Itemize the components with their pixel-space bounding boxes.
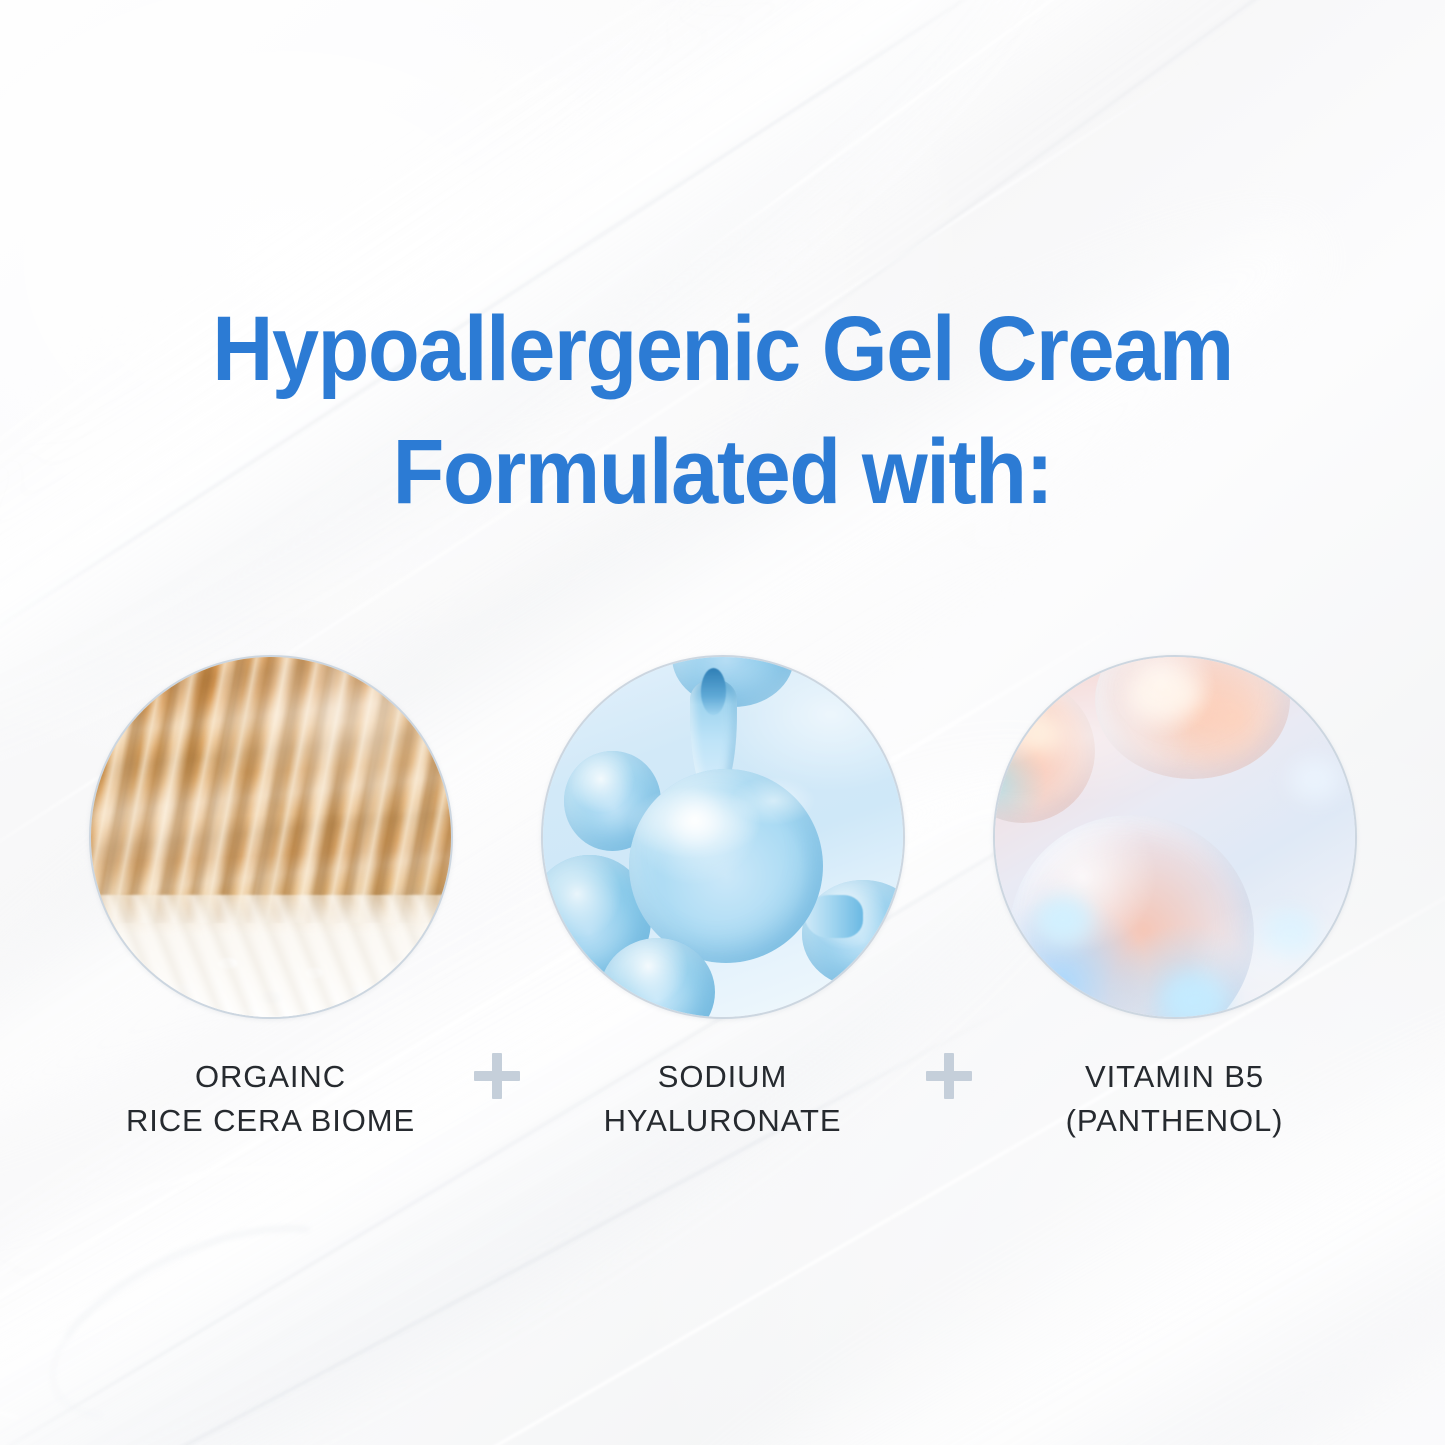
plus-icon — [926, 1053, 972, 1099]
ingredient-item-vitamin-b5: VITAMIN B5 (PANTHENOL) — [989, 655, 1361, 1143]
separator-plus-1 — [457, 655, 537, 1099]
ingredient-label-sodium-hyaluronate-line-1: SODIUM — [604, 1055, 842, 1099]
plus-icon — [474, 1053, 520, 1099]
separator-plus-2 — [909, 655, 989, 1099]
ingredient-label-vitamin-b5-line-1: VITAMIN B5 — [1066, 1055, 1284, 1099]
ingredient-image-rice — [89, 655, 453, 1019]
page-title-line-1: Hypoallergenic Gel Cream — [113, 288, 1332, 411]
ingredient-item-sodium-hyaluronate: SODIUM HYALURONATE — [537, 655, 909, 1143]
ingredient-label-rice-line-2: RICE CERA BIOME — [126, 1099, 415, 1143]
ingredient-image-sodium-hyaluronate — [541, 655, 905, 1019]
ingredient-label-sodium-hyaluronate-line-2: HYALURONATE — [604, 1099, 842, 1143]
ingredient-label-sodium-hyaluronate: SODIUM HYALURONATE — [604, 1055, 842, 1143]
rice-photo — [91, 657, 451, 1017]
page-title-line-2: Formulated with: — [113, 411, 1332, 534]
ingredient-label-rice: ORGAINC RICE CERA BIOME — [126, 1055, 415, 1143]
bubble-sheen-icon — [995, 657, 1355, 1017]
iridescent-bubble-photo — [995, 657, 1355, 1017]
ingredient-label-rice-line-1: ORGAINC — [126, 1055, 415, 1099]
ingredient-label-vitamin-b5-line-2: (PANTHENOL) — [1066, 1099, 1284, 1143]
ingredient-label-vitamin-b5: VITAMIN B5 (PANTHENOL) — [1066, 1055, 1284, 1143]
ingredient-image-vitamin-b5 — [993, 655, 1357, 1019]
ingredient-list: ORGAINC RICE CERA BIOME — [0, 655, 1445, 1143]
product-ingredient-poster: Hypoallergenic Gel Cream Formulated with… — [0, 0, 1445, 1445]
ingredient-item-organic-rice-cera-biome: ORGAINC RICE CERA BIOME — [85, 655, 457, 1143]
page-title: Hypoallergenic Gel Cream Formulated with… — [0, 288, 1445, 535]
gel-sphere-photo — [543, 657, 903, 1017]
gel-gloss-highlight-icon — [543, 657, 903, 1017]
rice-highlight-icon — [91, 657, 451, 1017]
